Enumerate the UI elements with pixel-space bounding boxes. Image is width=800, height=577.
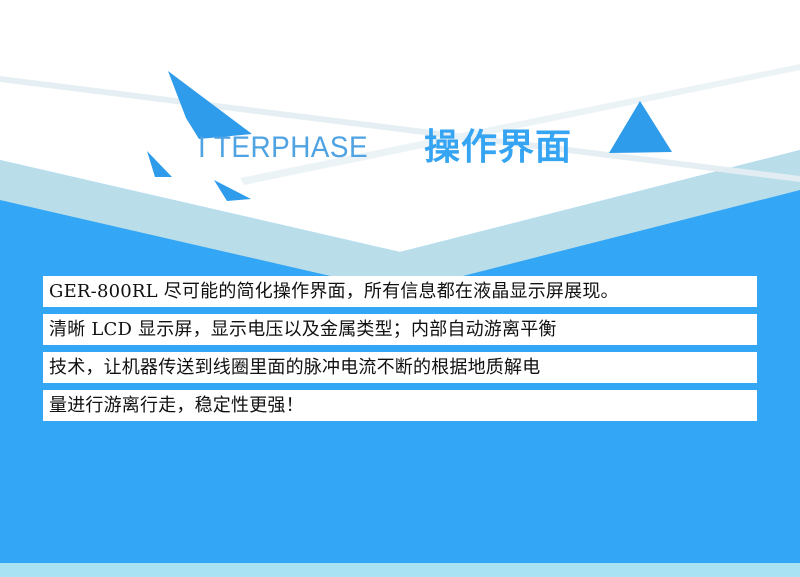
description-line: 技术，让机器传送到线圈里面的脉冲电流不断的根据地质解电 — [43, 352, 757, 383]
promo-banner: I TERPHASE 操作界面 GER-800RL 尽可能的简化操作界面，所有信… — [0, 0, 800, 577]
description-line: 量进行游离行走，稳定性更强！ — [43, 390, 757, 421]
bottom-strip — [0, 563, 800, 577]
description-line: 清晰 LCD 显示屏，显示电压以及金属类型；内部自动游离平衡 — [43, 314, 757, 345]
description-text-block: GER-800RL 尽可能的简化操作界面，所有信息都在液晶显示屏展现。 清晰 L… — [43, 276, 757, 421]
description-line: GER-800RL 尽可能的简化操作界面，所有信息都在液晶显示屏展现。 — [43, 276, 757, 307]
